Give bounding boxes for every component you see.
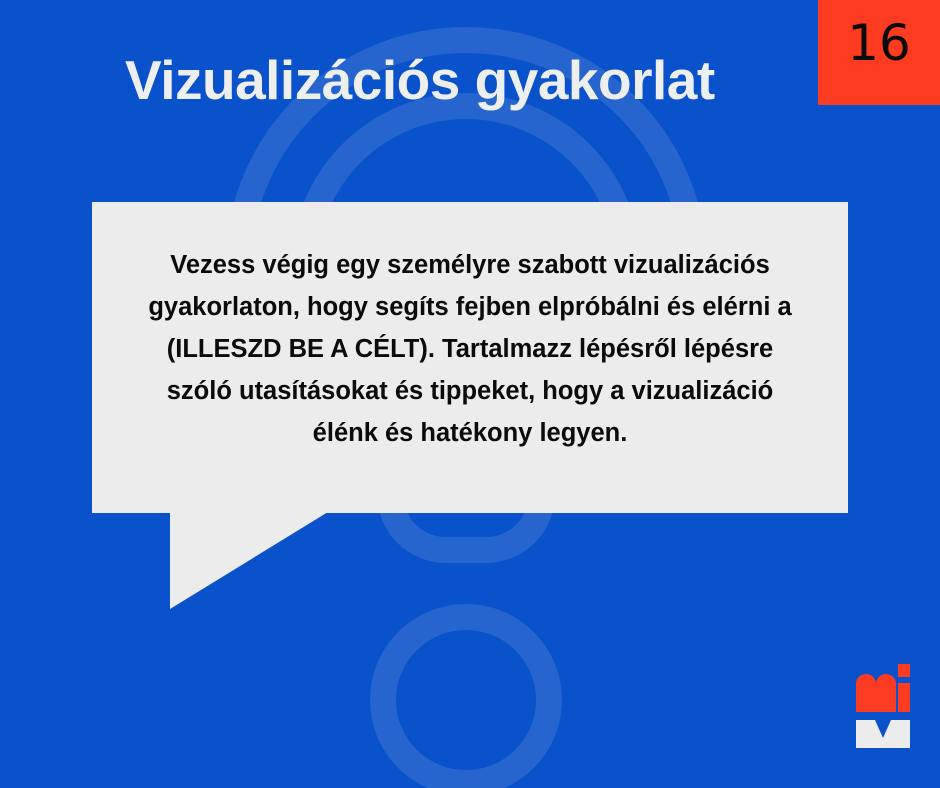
- page-title: Vizualizációs gyakorlat: [125, 52, 715, 110]
- logo-letter-i-stem-icon: [898, 683, 910, 712]
- logo-letter-m-left-stem: [856, 683, 866, 712]
- slide-number-badge: 16: [818, 0, 940, 105]
- logo-letter-m-right-stem: [886, 683, 896, 712]
- logo-letter-m-mid-stem: [876, 683, 886, 712]
- speech-bubble-tail-shape: [170, 512, 328, 609]
- speech-bubble-tail: [170, 512, 328, 609]
- logo-letter-i-dot-icon: [898, 664, 910, 677]
- logo-v-block-icon: [856, 720, 910, 748]
- mi-brand-logo: [856, 664, 910, 748]
- speech-bubble-text: Vezess végig egy személyre szabott vizua…: [132, 244, 808, 454]
- speech-bubble-card: Vezess végig egy személyre szabott vizua…: [92, 202, 848, 513]
- decor-circle-bottom: [383, 617, 549, 783]
- slide-number-label: 16: [818, 18, 940, 68]
- slide-canvas: Vizualizációs gyakorlat 16 Vezess végig …: [0, 0, 940, 788]
